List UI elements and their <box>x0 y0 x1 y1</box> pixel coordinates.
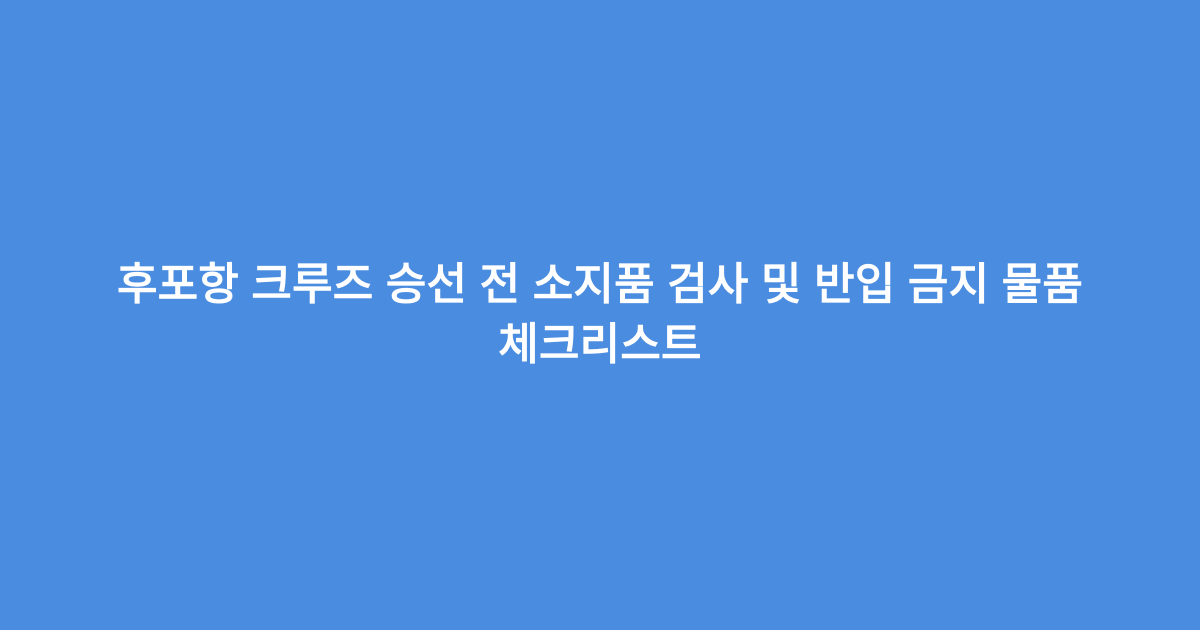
banner-content: 후포항 크루즈 승선 전 소지품 검사 및 반입 금지 물품 체크리스트 <box>88 255 1112 375</box>
share-banner: 후포항 크루즈 승선 전 소지품 검사 및 반입 금지 물품 체크리스트 <box>0 0 1200 630</box>
page-title: 후포항 크루즈 승선 전 소지품 검사 및 반입 금지 물품 체크리스트 <box>88 255 1112 375</box>
